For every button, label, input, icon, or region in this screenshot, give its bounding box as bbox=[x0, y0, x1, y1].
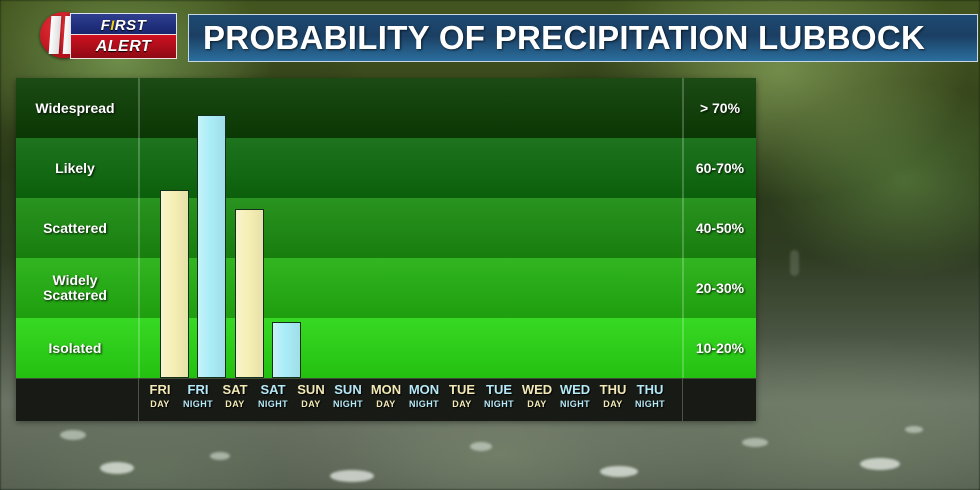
x-axis: FRIDAY FRINIGHT SATDAY SATNIGHT SUNDAY S… bbox=[16, 378, 756, 421]
x-tick-fri-day: FRIDAY bbox=[140, 382, 180, 410]
x-tick-thu-day: THUDAY bbox=[593, 382, 633, 410]
x-tick-period-label: NIGHT bbox=[555, 398, 595, 410]
band-pct-widespread: > 70% bbox=[684, 78, 756, 138]
x-tick-period-label: DAY bbox=[442, 398, 482, 410]
station-logo: FIRST ALERT bbox=[40, 8, 175, 60]
weather-graphic: FIRST ALERT PROBABILITY OF PRECIPITATION… bbox=[0, 0, 980, 490]
x-tick-day-label: WED bbox=[517, 382, 557, 398]
x-tick-wed-day: WEDDAY bbox=[517, 382, 557, 410]
x-tick-sun-day: SUNDAY bbox=[291, 382, 331, 410]
x-tick-thu-night: THUNIGHT bbox=[630, 382, 670, 410]
x-tick-sun-night: SUNNIGHT bbox=[328, 382, 368, 410]
logo-first-text: FIRST bbox=[101, 17, 147, 34]
x-tick-tue-night: TUENIGHT bbox=[479, 382, 519, 410]
x-tick-day-label: TUE bbox=[479, 382, 519, 398]
logo-alert-banner: ALERT bbox=[70, 34, 177, 59]
x-tick-sat-night: SATNIGHT bbox=[253, 382, 293, 410]
splash-droplet bbox=[742, 438, 768, 447]
x-tick-day-label: MON bbox=[404, 382, 444, 398]
x-tick-day-label: FRI bbox=[140, 382, 180, 398]
splash-droplet bbox=[470, 442, 492, 451]
bar-fri-day[interactable] bbox=[160, 190, 189, 378]
bar-gloss bbox=[161, 191, 188, 377]
x-tick-day-label: SAT bbox=[253, 382, 293, 398]
x-axis-edge-left bbox=[138, 379, 139, 421]
band-label-likely: Likely bbox=[16, 138, 134, 198]
bar-gloss bbox=[198, 116, 225, 377]
bar-gloss bbox=[273, 323, 300, 377]
bar-sat-day[interactable] bbox=[235, 209, 264, 378]
band-pct-scattered: 40-50% bbox=[684, 198, 756, 258]
splash-droplet bbox=[790, 250, 799, 276]
band-pct-likely: 60-70% bbox=[684, 138, 756, 198]
x-tick-wed-night: WEDNIGHT bbox=[555, 382, 595, 410]
splash-droplet bbox=[860, 458, 900, 470]
band-label-line1: Widely bbox=[53, 272, 98, 288]
x-tick-day-label: SUN bbox=[328, 382, 368, 398]
band-pct-widely-scattered: 20-30% bbox=[684, 258, 756, 318]
x-tick-period-label: NIGHT bbox=[253, 398, 293, 410]
band-label-scattered: Scattered bbox=[16, 198, 134, 258]
logo-alert-text: ALERT bbox=[96, 38, 152, 56]
splash-droplet bbox=[210, 452, 230, 460]
splash-droplet bbox=[100, 462, 134, 474]
header: FIRST ALERT PROBABILITY OF PRECIPITATION… bbox=[0, 0, 980, 74]
x-tick-period-label: DAY bbox=[593, 398, 633, 410]
x-axis-edge-right bbox=[682, 379, 683, 421]
x-tick-period-label: NIGHT bbox=[630, 398, 670, 410]
x-tick-period-label: NIGHT bbox=[479, 398, 519, 410]
x-tick-day-label: FRI bbox=[178, 382, 218, 398]
bar-sat-night[interactable] bbox=[272, 322, 301, 378]
splash-droplet bbox=[330, 470, 374, 482]
x-tick-day-label: SAT bbox=[215, 382, 255, 398]
x-tick-period-label: NIGHT bbox=[404, 398, 444, 410]
splash-droplet bbox=[600, 466, 638, 477]
x-tick-period-label: DAY bbox=[215, 398, 255, 410]
x-tick-period-label: DAY bbox=[140, 398, 180, 410]
x-tick-period-label: NIGHT bbox=[328, 398, 368, 410]
axis-line-right bbox=[682, 78, 684, 378]
x-tick-day-label: TUE bbox=[442, 382, 482, 398]
x-tick-tue-day: TUEDAY bbox=[442, 382, 482, 410]
x-tick-mon-day: MONDAY bbox=[366, 382, 406, 410]
band-label-line2: Scattered bbox=[43, 287, 107, 303]
x-tick-day-label: SUN bbox=[291, 382, 331, 398]
x-tick-period-label: NIGHT bbox=[178, 398, 218, 410]
band-label-widely-scattered: WidelyScattered bbox=[16, 258, 134, 318]
bar-fri-night[interactable] bbox=[197, 115, 226, 378]
x-tick-period-label: DAY bbox=[517, 398, 557, 410]
band-label-widespread: Widespread bbox=[16, 78, 134, 138]
band-pct-isolated: 10-20% bbox=[684, 318, 756, 378]
x-tick-mon-night: MONNIGHT bbox=[404, 382, 444, 410]
splash-droplet bbox=[905, 426, 923, 433]
bar-plot-area bbox=[138, 78, 682, 378]
band-label-isolated: Isolated bbox=[16, 318, 134, 378]
x-tick-period-label: DAY bbox=[291, 398, 331, 410]
precipitation-chart: Widespread > 70% Likely 60-70% Scattered… bbox=[16, 78, 756, 420]
x-tick-period-label: DAY bbox=[366, 398, 406, 410]
x-tick-day-label: THU bbox=[630, 382, 670, 398]
x-tick-day-label: THU bbox=[593, 382, 633, 398]
title-bar: PROBABILITY OF PRECIPITATION LUBBOCK bbox=[188, 14, 978, 62]
x-tick-sat-day: SATDAY bbox=[215, 382, 255, 410]
splash-droplet bbox=[60, 430, 86, 440]
bar-gloss bbox=[236, 210, 263, 377]
lightning-bolt-icon: I bbox=[110, 17, 114, 33]
x-tick-day-label: WED bbox=[555, 382, 595, 398]
x-tick-fri-night: FRINIGHT bbox=[178, 382, 218, 410]
page-title: PROBABILITY OF PRECIPITATION LUBBOCK bbox=[203, 19, 925, 57]
x-tick-day-label: MON bbox=[366, 382, 406, 398]
